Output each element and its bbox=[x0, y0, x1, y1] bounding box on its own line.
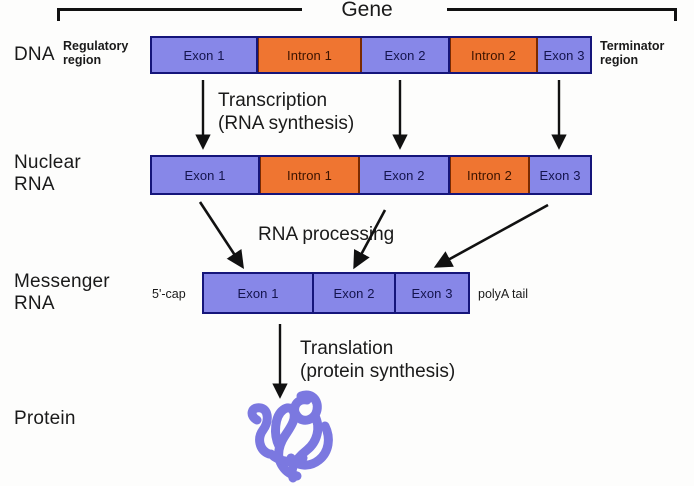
nuclear-segment-intron-1: Intron 1 bbox=[260, 157, 360, 193]
messenger-rna-sequence-bar: Exon 1 Exon 2 Exon 3 bbox=[202, 272, 470, 314]
nuclear-rna-sequence-bar: Exon 1 Intron 1 Exon 2 Intron 2 Exon 3 bbox=[150, 155, 592, 195]
gene-bracket: Gene bbox=[57, 8, 677, 22]
nuclear-segment-exon-2: Exon 2 bbox=[360, 157, 450, 193]
dna-segment-intron-2: Intron 2 bbox=[450, 38, 538, 72]
regulatory-region-note: Regulatory region bbox=[63, 40, 128, 68]
process-label-rna-processing: RNA processing bbox=[258, 224, 394, 247]
rna-processing-arrow-3 bbox=[437, 205, 548, 266]
five-prime-cap-note: 5'-cap bbox=[152, 288, 186, 302]
polya-tail-note: polyA tail bbox=[478, 288, 528, 302]
mrna-segment-exon-3: Exon 3 bbox=[396, 274, 468, 312]
stage-label-dna: DNA bbox=[14, 44, 55, 66]
process-label-translation: Translation (protein synthesis) bbox=[300, 338, 455, 384]
dna-sequence-bar: Exon 1 Intron 1 Exon 2 Intron 2 Exon 3 bbox=[150, 36, 592, 74]
dna-segment-intron-1: Intron 1 bbox=[258, 38, 362, 72]
stage-label-protein: Protein bbox=[14, 408, 76, 430]
stage-label-messenger-rna: Messenger RNA bbox=[14, 271, 110, 315]
gene-label: Gene bbox=[57, 0, 677, 22]
process-label-transcription: Transcription (RNA synthesis) bbox=[218, 90, 354, 136]
nuclear-segment-intron-2: Intron 2 bbox=[450, 157, 530, 193]
gene-expression-diagram: Gene DNA Nuclear RNA Messenger RNA Prote… bbox=[0, 0, 694, 486]
mrna-segment-exon-2: Exon 2 bbox=[314, 274, 396, 312]
stage-label-nuclear-rna: Nuclear RNA bbox=[14, 152, 81, 196]
mrna-segment-exon-1: Exon 1 bbox=[204, 274, 314, 312]
folded-protein-icon bbox=[245, 382, 355, 486]
nuclear-segment-exon-3: Exon 3 bbox=[530, 157, 590, 193]
nuclear-segment-exon-1: Exon 1 bbox=[152, 157, 260, 193]
terminator-region-note: Terminator region bbox=[600, 40, 664, 68]
rna-processing-arrow-1 bbox=[200, 202, 242, 266]
dna-segment-exon-1: Exon 1 bbox=[152, 38, 258, 72]
dna-segment-exon-2: Exon 2 bbox=[362, 38, 450, 72]
dna-segment-exon-3: Exon 3 bbox=[538, 38, 590, 72]
